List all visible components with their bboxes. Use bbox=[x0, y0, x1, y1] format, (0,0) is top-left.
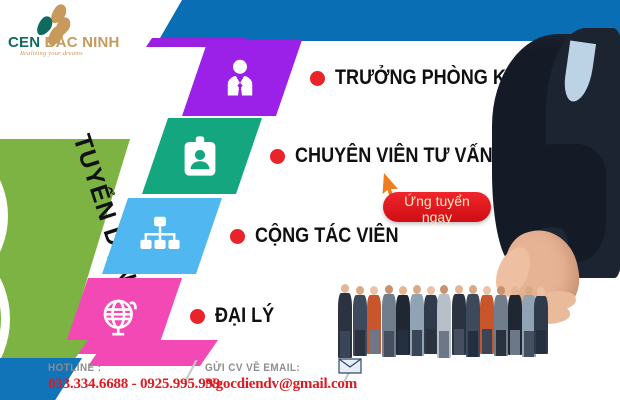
logo-word-cen: CEN bbox=[8, 34, 40, 51]
person-legs bbox=[439, 331, 449, 358]
person-figure bbox=[367, 286, 381, 354]
job-item-cong-tac-vien[interactable]: CỘNG TÁC VIÊN bbox=[102, 198, 422, 274]
person-figure bbox=[424, 286, 438, 354]
person-head bbox=[356, 286, 364, 295]
person-head bbox=[341, 284, 349, 293]
person-figure bbox=[452, 285, 466, 355]
hotline-label: HOTLINE : bbox=[48, 362, 203, 374]
bullet-dot bbox=[230, 229, 245, 244]
person-legs bbox=[340, 331, 350, 358]
person-figure bbox=[410, 285, 424, 356]
bullet-dot bbox=[310, 71, 325, 86]
bullet-dot bbox=[190, 309, 205, 324]
decor-ring bbox=[0, 139, 8, 301]
person-head bbox=[440, 285, 448, 294]
job-label: CỘNG TÁC VIÊN bbox=[255, 224, 398, 248]
person-figure bbox=[437, 285, 451, 358]
job-label: ĐẠI LÝ bbox=[215, 304, 274, 328]
person-legs bbox=[524, 331, 534, 357]
person-head bbox=[483, 286, 491, 295]
email-address[interactable]: Ngocdiendv@gmail.com bbox=[205, 376, 357, 393]
person-figure bbox=[466, 285, 480, 357]
person-figure bbox=[396, 286, 410, 355]
person-figure bbox=[534, 287, 548, 354]
person-legs bbox=[412, 330, 422, 356]
person-head bbox=[413, 285, 421, 294]
job-icon-tile bbox=[142, 118, 262, 194]
logo-word-bacninh: BẮC NINH bbox=[40, 34, 119, 51]
top-blue-bar bbox=[160, 0, 620, 38]
email-label: GỬI CV VỀ EMAIL: bbox=[205, 362, 342, 374]
hotline-number[interactable]: 033.334.6688 - 0925.995.999 bbox=[48, 376, 220, 393]
person-figure bbox=[338, 284, 352, 358]
person-head bbox=[537, 287, 545, 296]
person-legs bbox=[496, 330, 506, 356]
job-icon-tile bbox=[102, 198, 222, 274]
email-block: GỬI CV VỀ EMAIL: Ngocdiendv@gmail.com bbox=[205, 362, 357, 393]
person-head bbox=[455, 285, 463, 294]
decor-ring bbox=[0, 229, 10, 361]
recruitment-banner: CEN BẮC NINH Realizing your dreams TUYỂN… bbox=[0, 0, 620, 400]
job-label: CHUYÊN VIÊN TƯ VẤN bbox=[295, 144, 493, 168]
org-chart-icon bbox=[139, 215, 181, 257]
id-badge-icon bbox=[179, 135, 221, 177]
person-head bbox=[511, 286, 519, 295]
person-figure bbox=[382, 285, 396, 357]
globe-icon bbox=[99, 295, 141, 337]
person-legs bbox=[468, 331, 478, 357]
job-icon-tile bbox=[182, 40, 302, 116]
person-head bbox=[370, 286, 378, 295]
person-legs bbox=[355, 330, 365, 356]
person-head bbox=[427, 286, 435, 295]
person-legs bbox=[510, 330, 520, 355]
businessperson-icon bbox=[219, 57, 261, 99]
person-figure bbox=[480, 286, 494, 354]
group-of-people-photo bbox=[336, 282, 548, 358]
person-head bbox=[399, 286, 407, 295]
person-head bbox=[469, 285, 477, 294]
person-head bbox=[525, 286, 533, 295]
person-head bbox=[497, 286, 505, 295]
person-figure bbox=[508, 286, 522, 355]
company-logo[interactable]: CEN BẮC NINH Realizing your dreams bbox=[8, 4, 118, 60]
person-legs bbox=[454, 329, 464, 355]
person-figure bbox=[353, 286, 367, 356]
job-item-chuyen-vien-tu-van[interactable]: CHUYÊN VIÊN TƯ VẤN bbox=[142, 118, 525, 194]
person-legs bbox=[482, 329, 492, 354]
logo-wordmark: CEN BẮC NINH bbox=[8, 34, 118, 51]
person-figure bbox=[494, 286, 508, 356]
logo-tagline: Realizing your dreams bbox=[20, 50, 83, 57]
person-legs bbox=[536, 330, 546, 354]
person-legs bbox=[384, 331, 394, 357]
person-legs bbox=[369, 329, 379, 354]
hotline-block: HOTLINE : 033.334.6688 - 0925.995.999 bbox=[48, 362, 220, 393]
person-head bbox=[385, 285, 393, 294]
person-legs bbox=[398, 330, 408, 355]
person-legs bbox=[426, 329, 436, 354]
bullet-dot bbox=[270, 149, 285, 164]
